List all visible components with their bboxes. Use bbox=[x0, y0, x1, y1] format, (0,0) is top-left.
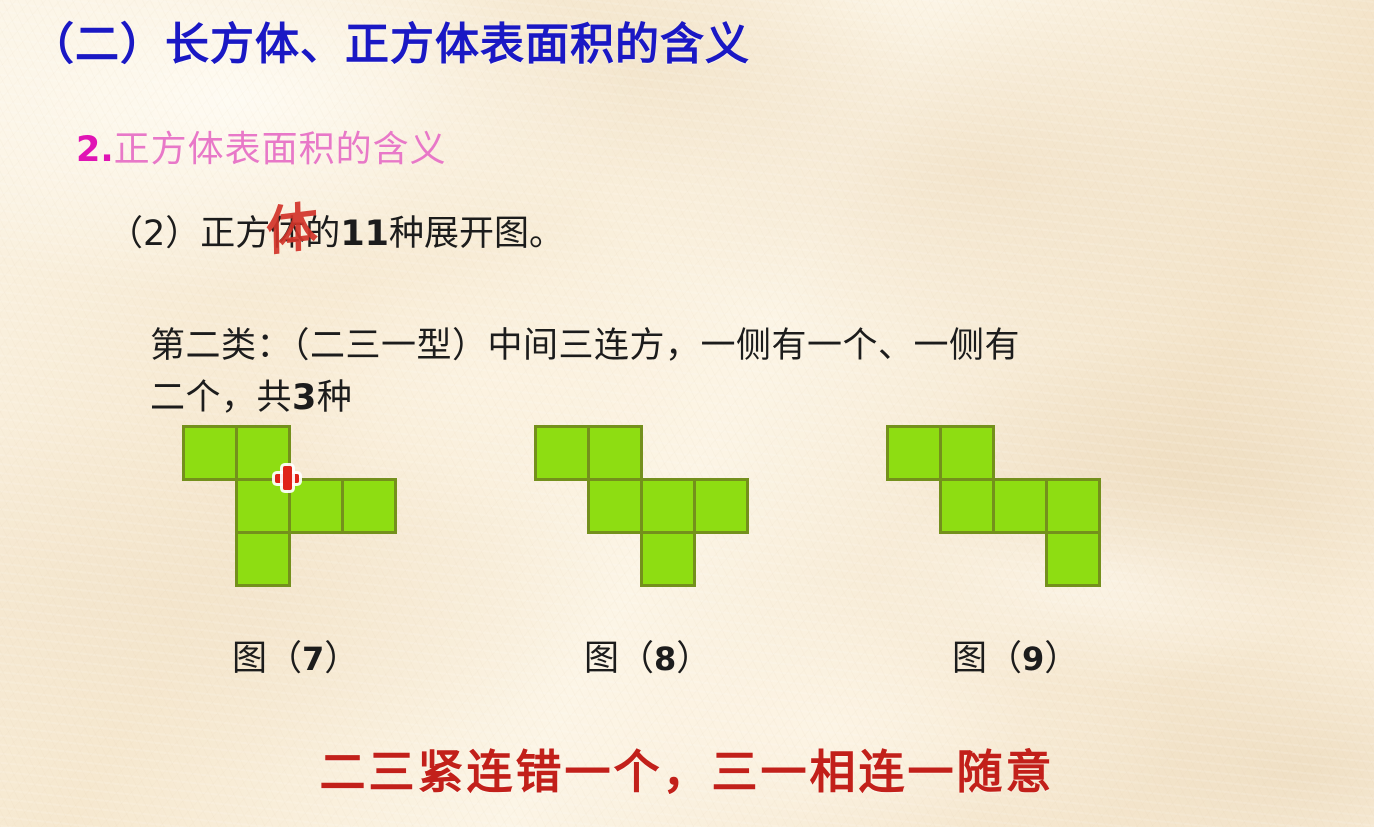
net-cell[interactable] bbox=[886, 425, 942, 481]
caption-suffix: ） bbox=[1044, 639, 1079, 678]
net-cell[interactable] bbox=[640, 478, 696, 534]
caption-prefix: 图（ bbox=[952, 639, 1022, 678]
item-suffix: 种展开图。 bbox=[389, 214, 564, 254]
net-cell[interactable] bbox=[992, 478, 1048, 534]
red-cross-cursor-icon bbox=[274, 465, 300, 491]
net-cell[interactable] bbox=[534, 425, 590, 481]
net-cell[interactable] bbox=[341, 478, 397, 534]
caption-number: 7 bbox=[302, 640, 324, 678]
figure-caption-9: 图（9） bbox=[952, 630, 1079, 681]
net-cell[interactable] bbox=[939, 425, 995, 481]
net-cell[interactable] bbox=[640, 531, 696, 587]
net-cell[interactable] bbox=[182, 425, 238, 481]
net-cell[interactable] bbox=[587, 478, 643, 534]
paragraph-count: 3 bbox=[292, 378, 317, 418]
item-line: （2）正方体体的11种展开图。 bbox=[108, 205, 564, 256]
paragraph-line-2a: 二个，共 bbox=[150, 378, 292, 418]
figure-caption-7: 图（7） bbox=[232, 630, 359, 681]
page-title: （二）长方体、正方体表面积的含义 bbox=[30, 8, 750, 72]
net-cell[interactable] bbox=[587, 425, 643, 481]
net-cell[interactable] bbox=[939, 478, 995, 534]
description-paragraph: 第二类：（二三一型）中间三连方，一侧有一个、一侧有 二个，共3种 bbox=[150, 320, 1374, 424]
slide-canvas: （二）长方体、正方体表面积的含义 2.正方体表面积的含义 （2）正方体体的11种… bbox=[0, 0, 1374, 827]
caption-suffix: ） bbox=[324, 639, 359, 678]
net-cell[interactable] bbox=[693, 478, 749, 534]
annotated-character-base: 体 bbox=[270, 214, 305, 254]
cursor-arm-vertical bbox=[283, 466, 292, 490]
caption-suffix: ） bbox=[676, 639, 711, 678]
caption-number: 9 bbox=[1022, 640, 1044, 678]
paragraph-line-2b: 种 bbox=[317, 378, 353, 418]
caption-prefix: 图（ bbox=[584, 639, 654, 678]
item-prefix: （2）正方 bbox=[108, 214, 270, 254]
footer-mnemonic: 二三紧连错一个，三一相连一随意 bbox=[0, 736, 1374, 802]
annotated-character: 体体 bbox=[270, 205, 305, 256]
cube-net-diagrams: 图（7） 图（8） 图（9） bbox=[0, 425, 1374, 605]
subheading: 2.正方体表面积的含义 bbox=[76, 120, 447, 172]
subheading-text: 正方体表面积的含义 bbox=[114, 129, 447, 170]
caption-prefix: 图（ bbox=[232, 639, 302, 678]
caption-number: 8 bbox=[654, 640, 676, 678]
paragraph-line-1: 第二类：（二三一型）中间三连方，一侧有一个、一侧有 bbox=[150, 326, 1020, 366]
subheading-number: 2. bbox=[76, 130, 114, 170]
item-count: 11 bbox=[340, 214, 389, 254]
figure-caption-8: 图（8） bbox=[584, 630, 711, 681]
net-cell[interactable] bbox=[235, 531, 291, 587]
net-cell[interactable] bbox=[1045, 531, 1101, 587]
item-middle: 的 bbox=[305, 214, 340, 254]
net-cell[interactable] bbox=[1045, 478, 1101, 534]
